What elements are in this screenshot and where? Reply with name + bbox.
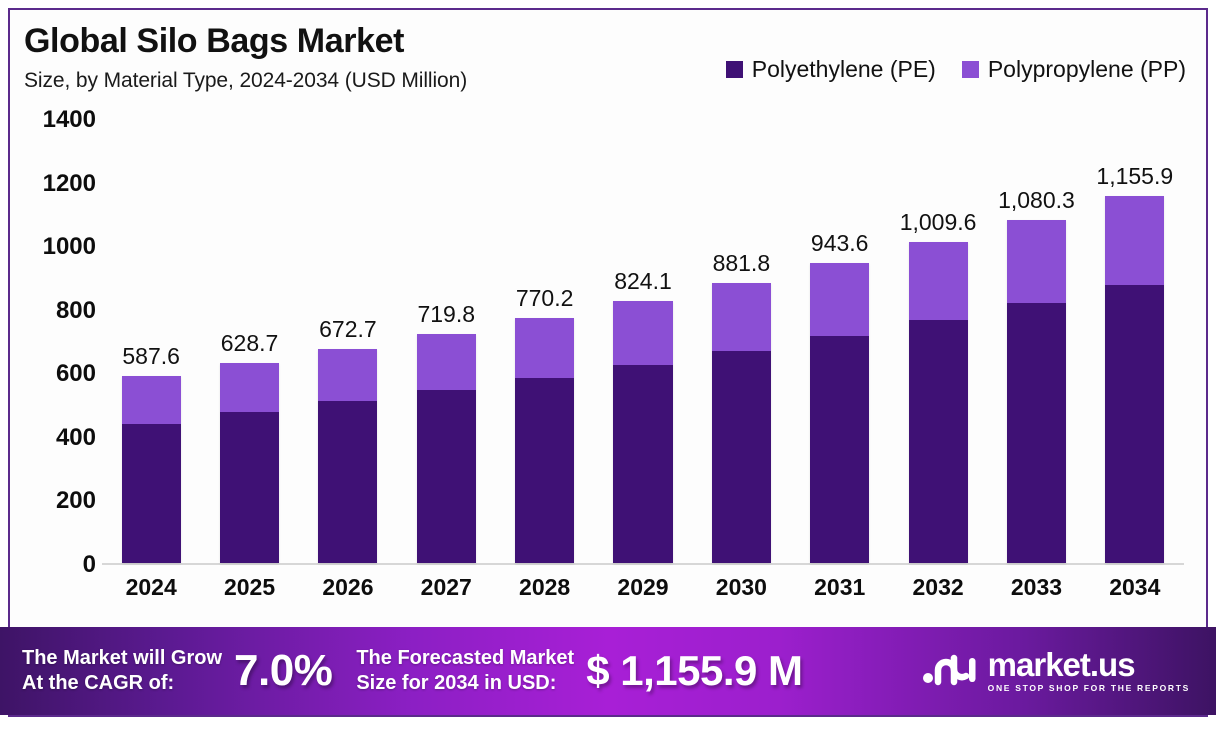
- bar-group[interactable]: 1,155.9: [1105, 196, 1164, 563]
- y-axis-tick-label: 800: [14, 299, 96, 323]
- bar-stack[interactable]: [1105, 196, 1164, 563]
- market-us-mark-icon: [922, 648, 978, 695]
- logo-wordmark: market.us: [988, 648, 1190, 682]
- bar-group[interactable]: 628.7: [220, 363, 279, 563]
- bar-stack[interactable]: [909, 242, 968, 563]
- chart-legend: Polyethylene (PE)Polypropylene (PP): [726, 56, 1186, 82]
- bar-stack[interactable]: [613, 301, 672, 563]
- bar-total-label: 943.6: [765, 231, 915, 255]
- bar-segment-polyethylene[interactable]: [810, 336, 869, 563]
- x-axis-tick-label: 2027: [421, 572, 472, 602]
- x-axis-tick-label: 2024: [126, 572, 177, 602]
- bar-segment-polypropylene[interactable]: [909, 242, 968, 320]
- bar-segment-polypropylene[interactable]: [220, 363, 279, 412]
- x-axis-tick-label: 2034: [1109, 572, 1160, 602]
- cagr-caption: The Market will Grow At the CAGR of:: [22, 646, 222, 696]
- forecast-block: The Forecasted Market Size for 2034 in U…: [356, 646, 802, 696]
- plot-area: 1400120010008006004002000 587.6628.7672.…: [14, 120, 1194, 615]
- bar-stack[interactable]: [318, 349, 377, 563]
- bar-segment-polyethylene[interactable]: [220, 412, 279, 563]
- bar-group[interactable]: 1,080.3: [1007, 220, 1066, 563]
- x-axis-tick-label: 2025: [224, 572, 275, 602]
- market-us-logo[interactable]: market.us ONE STOP SHOP FOR THE REPORTS: [922, 648, 1190, 695]
- bar-group[interactable]: 587.6: [122, 376, 181, 563]
- bar-group[interactable]: 770.2: [515, 318, 574, 563]
- bar-segment-polypropylene[interactable]: [1007, 220, 1066, 303]
- bar-segment-polypropylene[interactable]: [122, 376, 181, 424]
- cagr-caption-line1: The Market will Grow: [22, 646, 222, 671]
- forecast-caption-line2: Size for 2034 in USD:: [356, 671, 574, 696]
- y-axis-tick-label: 1200: [14, 172, 96, 196]
- y-axis-tick-label: 0: [14, 553, 96, 577]
- legend-swatch-icon: [726, 61, 743, 78]
- bar-group[interactable]: 824.1: [613, 301, 672, 563]
- legend-label: Polyethylene (PE): [752, 56, 936, 82]
- cagr-value: 7.0%: [234, 647, 332, 695]
- bar-group[interactable]: 1,009.6: [909, 242, 968, 563]
- x-axis-tick-label: 2032: [912, 572, 963, 602]
- forecast-caption-line1: The Forecasted Market: [356, 646, 574, 671]
- x-axis-tick-label: 2029: [617, 572, 668, 602]
- legend-item[interactable]: Polypropylene (PP): [962, 56, 1186, 82]
- bar-segment-polypropylene[interactable]: [1105, 196, 1164, 285]
- x-axis-tick-label: 2026: [322, 572, 373, 602]
- market-us-logo-text: market.us ONE STOP SHOP FOR THE REPORTS: [988, 648, 1190, 694]
- bar-total-label: 1,009.6: [863, 210, 1013, 234]
- footer-banner: The Market will Grow At the CAGR of: 7.0…: [0, 627, 1216, 715]
- forecast-value: $ 1,155.9 M: [586, 647, 802, 695]
- legend-swatch-icon: [962, 61, 979, 78]
- legend-label: Polypropylene (PP): [988, 56, 1186, 82]
- bar-stack[interactable]: [1007, 220, 1066, 563]
- bar-stack[interactable]: [417, 334, 476, 563]
- bar-stack[interactable]: [810, 263, 869, 563]
- bar-stack[interactable]: [220, 363, 279, 563]
- legend-item[interactable]: Polyethylene (PE): [726, 56, 936, 82]
- bar-total-label: 1,155.9: [1060, 164, 1210, 188]
- bar-segment-polyethylene[interactable]: [909, 320, 968, 563]
- bars-area: 587.6628.7672.7719.8770.2824.1881.8943.6…: [102, 120, 1184, 565]
- x-axis-tick-label: 2028: [519, 572, 570, 602]
- cagr-block: The Market will Grow At the CAGR of: 7.0…: [22, 646, 332, 696]
- bar-stack[interactable]: [515, 318, 574, 563]
- bar-group[interactable]: 719.8: [417, 334, 476, 563]
- bar-segment-polyethylene[interactable]: [122, 424, 181, 563]
- x-axis: 2024202520262027202820292030203120322033…: [102, 572, 1184, 612]
- x-axis-tick-label: 2030: [716, 572, 767, 602]
- forecast-caption: The Forecasted Market Size for 2034 in U…: [356, 646, 574, 696]
- cagr-caption-line2: At the CAGR of:: [22, 671, 222, 696]
- bar-stack[interactable]: [712, 283, 771, 563]
- x-axis-tick-label: 2033: [1011, 572, 1062, 602]
- bar-segment-polyethylene[interactable]: [712, 351, 771, 563]
- bar-total-label: 1,080.3: [961, 188, 1111, 212]
- bar-segment-polyethylene[interactable]: [1007, 303, 1066, 563]
- y-axis-tick-label: 400: [14, 426, 96, 450]
- logo-tagline: ONE STOP SHOP FOR THE REPORTS: [988, 682, 1190, 694]
- bar-group[interactable]: 943.6: [810, 263, 869, 563]
- infographic-root: Global Silo Bags Market Size, by Materia…: [0, 0, 1216, 740]
- y-axis-tick-label: 1400: [14, 108, 96, 132]
- bar-segment-polypropylene[interactable]: [417, 334, 476, 390]
- bar-segment-polyethylene[interactable]: [515, 378, 574, 563]
- bar-segment-polypropylene[interactable]: [712, 283, 771, 351]
- y-axis-tick-label: 200: [14, 489, 96, 513]
- bar-group[interactable]: 881.8: [712, 283, 771, 563]
- bar-segment-polypropylene[interactable]: [810, 263, 869, 336]
- bar-segment-polypropylene[interactable]: [515, 318, 574, 378]
- bar-segment-polypropylene[interactable]: [613, 301, 672, 365]
- y-axis: 1400120010008006004002000: [14, 120, 96, 565]
- bar-segment-polyethylene[interactable]: [417, 390, 476, 563]
- bar-stack[interactable]: [122, 376, 181, 563]
- bar-segment-polyethylene[interactable]: [318, 401, 377, 563]
- bar-segment-polypropylene[interactable]: [318, 349, 377, 401]
- bar-group[interactable]: 672.7: [318, 349, 377, 563]
- bar-segment-polyethylene[interactable]: [1105, 285, 1164, 563]
- y-axis-tick-label: 1000: [14, 235, 96, 259]
- x-axis-tick-label: 2031: [814, 572, 865, 602]
- bar-segment-polyethylene[interactable]: [613, 365, 672, 563]
